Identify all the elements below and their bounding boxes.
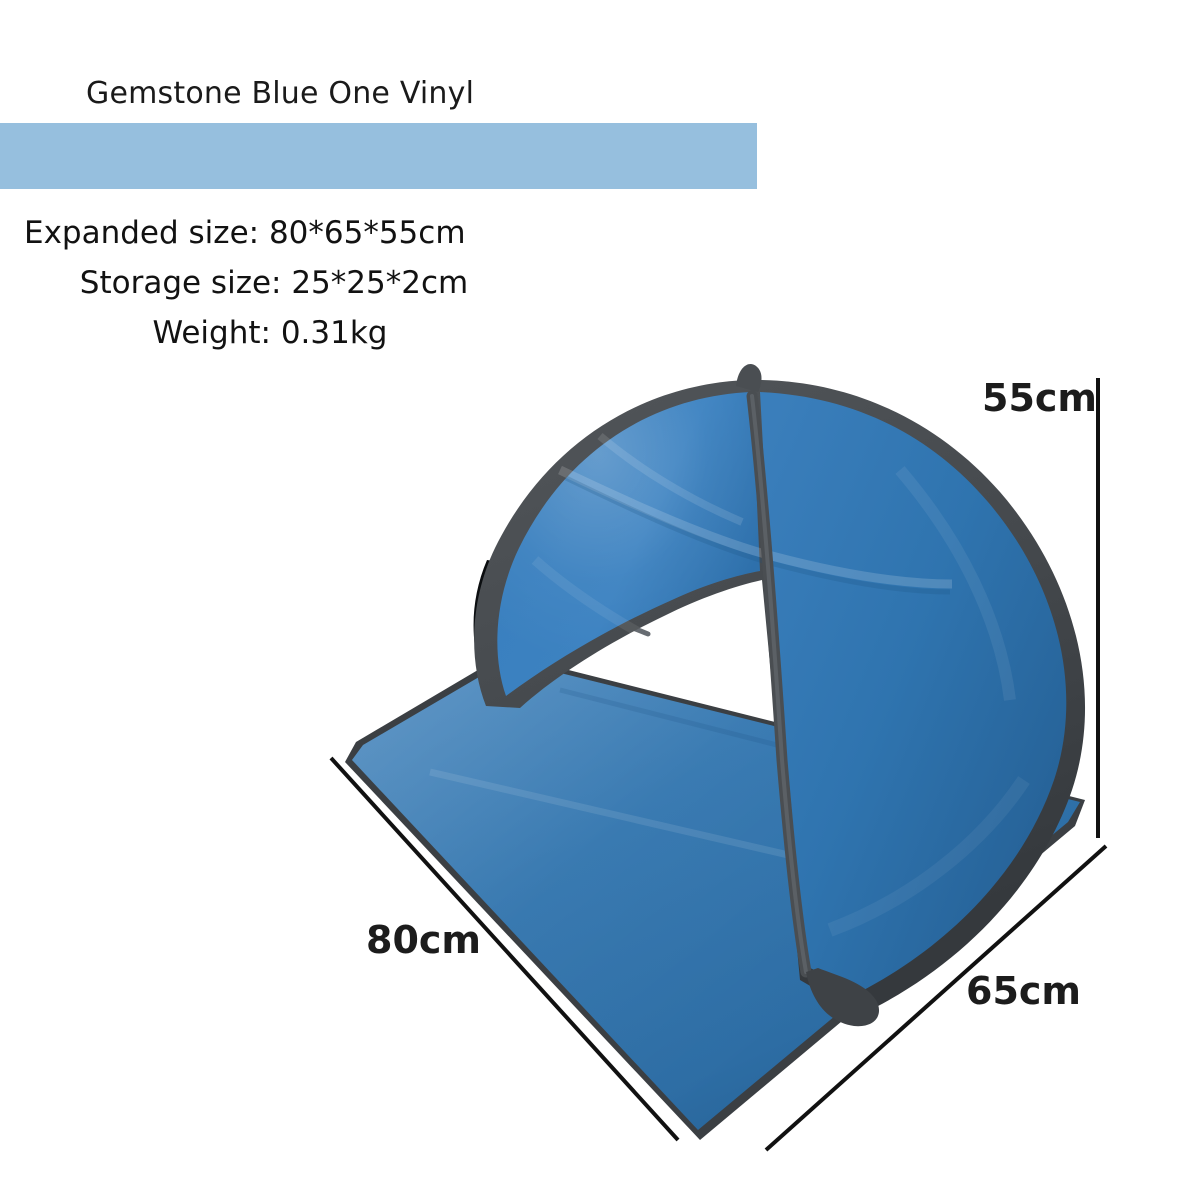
- dimension-label-width: 80cm: [366, 918, 481, 962]
- product-infographic: Gemstone Blue One Vinyl Expanded size: 8…: [0, 0, 1200, 1200]
- dimension-label-depth: 65cm: [966, 969, 1081, 1013]
- product-illustration: [0, 0, 1200, 1200]
- dimension-label-height: 55cm: [982, 376, 1097, 420]
